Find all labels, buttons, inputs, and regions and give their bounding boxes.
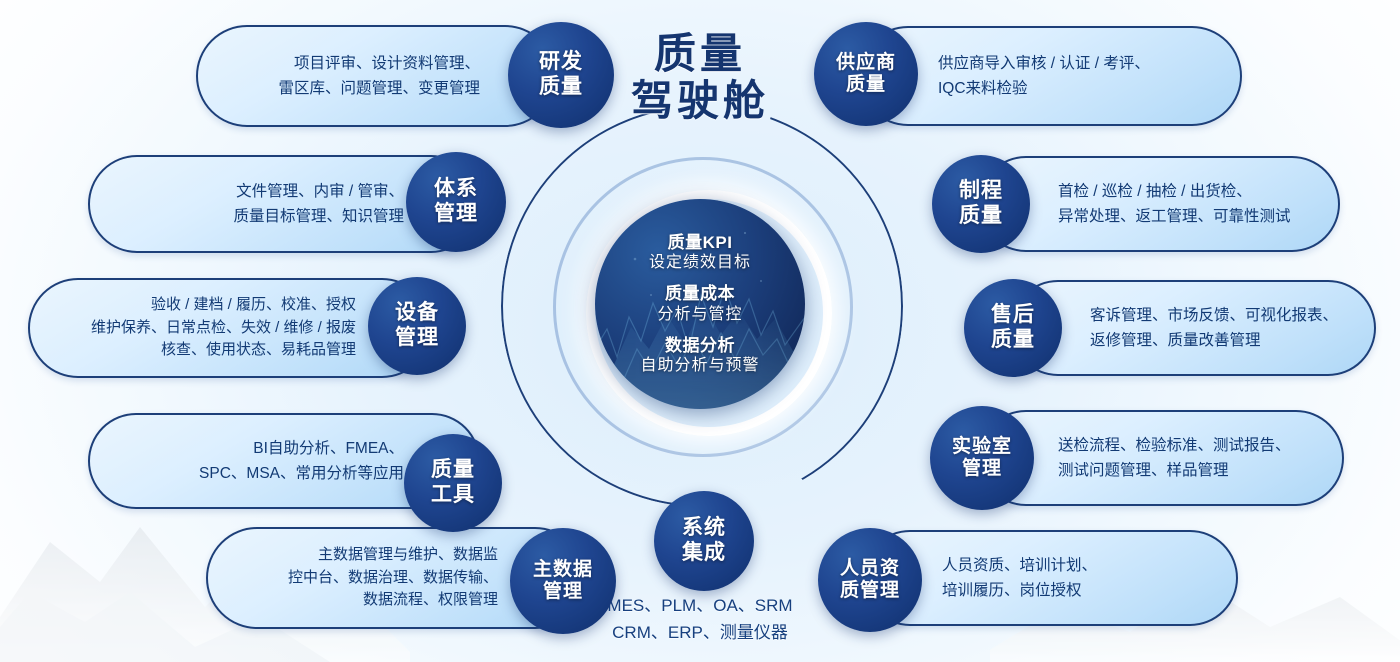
module-badge-after-sales-quality[interactable]: 售后 质量 [964, 279, 1062, 377]
page-title-line-2: 驾驶舱 [575, 77, 825, 124]
module-desc-process-quality: 首检 / 巡检 / 抽检 / 出货检、 异常处理、返工管理、可靠性测试 [980, 179, 1338, 229]
module-badge-label-quality-tools: 质量 工具 [431, 458, 475, 508]
module-badge-personnel-qualification[interactable]: 人员资 质管理 [818, 528, 922, 632]
core-block-cost: 质量成本 分析与管控 [595, 283, 805, 324]
module-badge-label-laboratory-management: 实验室 管理 [952, 436, 1012, 481]
module-badge-system-management[interactable]: 体系 管理 [406, 152, 506, 252]
system-integration-items: MES、PLM、OA、SRM CRM、ERP、测量仪器 [585, 592, 815, 646]
module-badge-label-master-data-management: 主数据 管理 [533, 559, 593, 604]
core-cost-title: 质量成本 [595, 283, 805, 304]
module-badge-label-process-quality: 制程 质量 [959, 179, 1003, 229]
module-badge-master-data-management[interactable]: 主数据 管理 [510, 528, 616, 634]
module-pill-process-quality[interactable]: 首检 / 巡检 / 抽检 / 出货检、 异常处理、返工管理、可靠性测试 [978, 156, 1340, 252]
module-badge-label-system-management: 体系 管理 [434, 177, 478, 227]
core-analysis-title: 数据分析 [595, 335, 805, 356]
module-badge-supplier-quality[interactable]: 供应商 质量 [814, 22, 918, 126]
module-pill-after-sales-quality[interactable]: 客诉管理、市场反馈、可视化报表、 返修管理、质量改善管理 [1010, 280, 1376, 376]
page-title-line-1: 质量 [575, 30, 825, 77]
module-badge-equipment-management[interactable]: 设备 管理 [368, 277, 466, 375]
core-block-kpi: 质量KPI 设定绩效目标 [595, 232, 805, 273]
quality-cockpit-core[interactable]: 质量KPI 设定绩效目标 质量成本 分析与管控 数据分析 自助分析与预警 [595, 199, 805, 409]
core-block-analysis: 数据分析 自助分析与预警 [595, 335, 805, 376]
core-analysis-sub: 自助分析与预警 [595, 356, 805, 376]
module-badge-label-supplier-quality: 供应商 质量 [836, 52, 896, 97]
module-desc-after-sales-quality: 客诉管理、市场反馈、可视化报表、 返修管理、质量改善管理 [1012, 303, 1374, 353]
infographic-canvas: 质量 驾驶舱 质量KPI 设 [0, 0, 1400, 662]
module-badge-system-integration[interactable]: 系统 集成 [654, 491, 754, 591]
core-kpi-sub: 设定绩效目标 [595, 253, 805, 273]
core-kpi-title: 质量KPI [595, 232, 805, 253]
module-badge-label-equipment-management: 设备 管理 [395, 301, 439, 351]
core-cost-sub: 分析与管控 [595, 305, 805, 325]
module-desc-laboratory-management: 送检流程、检验标准、测试报告、 测试问题管理、样品管理 [980, 433, 1342, 483]
module-badge-laboratory-management[interactable]: 实验室 管理 [930, 406, 1034, 510]
module-badge-label-personnel-qualification: 人员资 质管理 [840, 558, 900, 603]
module-pill-rd-quality[interactable]: 项目评审、设计资料管理、 雷区库、问题管理、变更管理 [196, 25, 556, 127]
module-badge-label-system-integration: 系统 集成 [682, 516, 726, 566]
module-badge-quality-tools[interactable]: 质量 工具 [404, 434, 502, 532]
module-badge-process-quality[interactable]: 制程 质量 [932, 155, 1030, 253]
page-title: 质量 驾驶舱 [575, 30, 825, 124]
module-desc-rd-quality: 项目评审、设计资料管理、 雷区库、问题管理、变更管理 [198, 51, 554, 101]
module-badge-label-after-sales-quality: 售后 质量 [991, 303, 1035, 353]
